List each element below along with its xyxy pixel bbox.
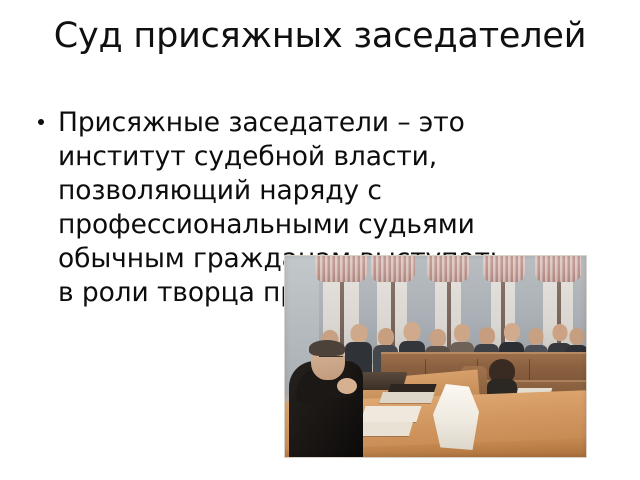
photo-scene: [285, 256, 586, 457]
courtroom-photo: [285, 256, 586, 457]
paper-sheet: [379, 392, 435, 403]
curtain-valance: [535, 256, 581, 282]
curtain-valance: [371, 256, 415, 282]
presentation-slide: Суд присяжных заседателей Присяжные засе…: [0, 0, 640, 480]
bullet-point-icon: [38, 119, 44, 125]
judge-figure: [289, 340, 375, 457]
curtain-valance: [427, 256, 469, 282]
curtain-valance: [483, 256, 525, 282]
curtain-valance: [315, 256, 367, 282]
slide-title: Суд присяжных заседателей: [0, 16, 640, 57]
